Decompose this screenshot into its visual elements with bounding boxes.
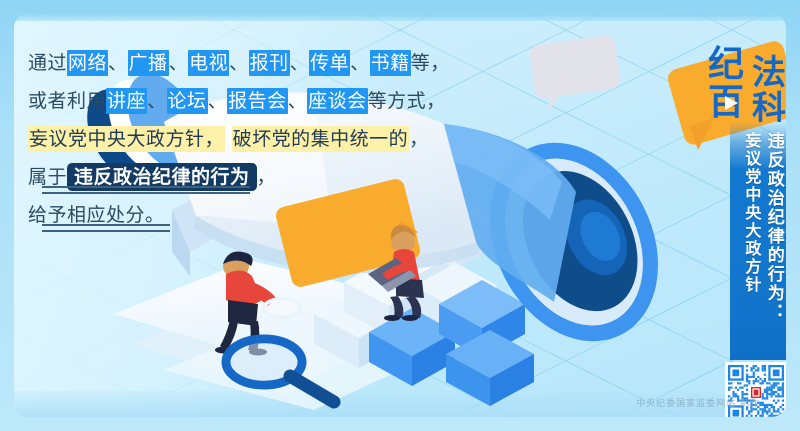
logo-char-ji: 纪 bbox=[708, 44, 744, 85]
text-segment: 、 bbox=[350, 52, 370, 74]
text-segment: 、 bbox=[208, 90, 228, 112]
text-segment: 书籍 bbox=[370, 50, 411, 76]
text-segment: 论坛 bbox=[167, 88, 208, 114]
poster-inner-panel: 通过网络、广播、电视、报刊、传单、书籍等， 或者利用讲座、论坛、报告会、座谈会等… bbox=[14, 14, 786, 417]
text-segment: 等方式， bbox=[368, 90, 446, 112]
statement-line-3: 妄议党中央大政方针， 破坏党的集中统一的， bbox=[28, 120, 448, 158]
text-segment: 通过 bbox=[28, 52, 67, 74]
banner-column-right: 违反政治纪律的行为： bbox=[762, 132, 784, 360]
vertical-title-banner: 违反政治纪律的行为： 妄议党中央大政方针 bbox=[730, 122, 786, 360]
text-segment: ， bbox=[257, 166, 277, 188]
logo-char-ke: 科 bbox=[752, 89, 786, 122]
text-segment: 电视 bbox=[188, 50, 229, 76]
text-segment: 、 bbox=[290, 52, 310, 74]
banner-column-left: 妄议党中央大政方针 bbox=[741, 132, 762, 360]
statement-line-2: 或者利用讲座、论坛、报告会、座谈会等方式， bbox=[28, 82, 448, 120]
text-segment: 、 bbox=[288, 90, 308, 112]
speech-bubble-grey bbox=[529, 34, 622, 110]
logo-char-fa: 法 bbox=[752, 53, 786, 93]
text-segment: 广播 bbox=[128, 50, 169, 76]
text-segment: 、 bbox=[108, 52, 128, 74]
text-segment: 讲座 bbox=[106, 88, 147, 114]
emphasis-underline bbox=[42, 224, 170, 232]
text-segment: 等， bbox=[411, 52, 450, 74]
text-segment: 报刊 bbox=[249, 50, 290, 76]
text-segment: 或者利用 bbox=[28, 90, 106, 112]
text-segment: 座谈会 bbox=[307, 88, 368, 114]
qr-code-image bbox=[728, 365, 784, 417]
emphasis-underline bbox=[42, 186, 250, 194]
text-segment bbox=[225, 128, 232, 150]
text-segment: 报告会 bbox=[227, 88, 288, 114]
statement-line-5: 给予相应处分。 bbox=[28, 196, 448, 234]
text-segment: 属于 bbox=[28, 166, 67, 188]
text-segment: 给予相应处分。 bbox=[28, 204, 165, 226]
text-segment: 破坏党的集中统一的 bbox=[232, 126, 410, 152]
statement-text-block: 通过网络、广播、电视、报刊、传单、书籍等， 或者利用讲座、论坛、报告会、座谈会等… bbox=[28, 44, 448, 234]
text-segment: 、 bbox=[169, 52, 189, 74]
jifa-baike-logo[interactable]: 纪 法 百 科 bbox=[704, 40, 786, 122]
text-segment: 网络 bbox=[67, 50, 108, 76]
logo-char-bai-play: 百 bbox=[708, 82, 744, 122]
statement-line-1: 通过网络、广播、电视、报刊、传单、书籍等， bbox=[28, 44, 448, 82]
site-credit: 中央纪委国家监委网站 制作 bbox=[636, 396, 760, 409]
text-segment: 、 bbox=[229, 52, 249, 74]
text-segment: 妄议党中央大政方针， bbox=[28, 126, 225, 152]
poster-root: 通过网络、广播、电视、报刊、传单、书籍等， 或者利用讲座、论坛、报告会、座谈会等… bbox=[0, 0, 800, 431]
text-segment: ， bbox=[409, 128, 429, 150]
statement-line-4: 属于违反政治纪律的行为， bbox=[28, 158, 448, 196]
text-segment: 传单 bbox=[309, 50, 350, 76]
text-segment: 、 bbox=[147, 90, 167, 112]
